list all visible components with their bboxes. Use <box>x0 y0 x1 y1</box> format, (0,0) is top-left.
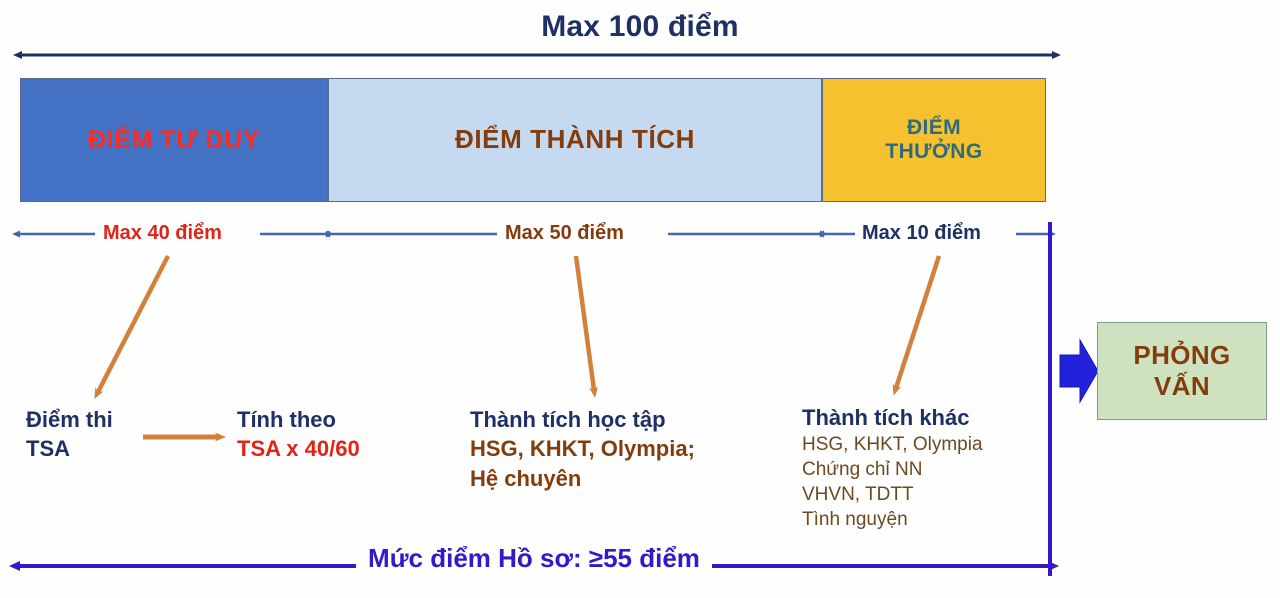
interview-line1: PHỎNG <box>1133 340 1230 371</box>
interview-box[interactable]: PHỎNG VẤN <box>1097 322 1267 420</box>
list-item: VHVN, TDTT <box>802 482 983 507</box>
block-study-achievement: Thành tích học tập HSG, KHKT, Olympia; H… <box>470 405 695 493</box>
interview-line2: VẤN <box>1133 371 1230 402</box>
block-other-achievement: Thành tích khác HSG, KHKT, Olympia Chứng… <box>802 403 983 533</box>
footer-threshold-text: Mức điểm Hồ sơ: ≥55 điểm <box>356 543 712 573</box>
list-item: HSG, KHKT, Olympia <box>802 432 983 457</box>
block-other-list: HSG, KHKT, Olympia Chứng chỉ NN VHVN, TD… <box>802 432 983 532</box>
list-item: Tình nguyện <box>802 507 983 532</box>
diagram-canvas: Max 100 điểm <box>0 0 1280 598</box>
max-label-thinking: Max 40 điểm <box>103 222 222 245</box>
block-formula-line1: Tính theo <box>237 405 360 434</box>
page-title: Max 100 điểm <box>0 10 1280 44</box>
block-arrow-right-icon <box>1060 340 1098 402</box>
block-tsa-formula: Tính theo TSA x 40/60 <box>237 405 360 464</box>
block-study-line2: Hệ chuyên <box>470 464 695 493</box>
block-formula-line2: TSA x 40/60 <box>237 434 360 463</box>
list-item: Chứng chỉ NN <box>802 457 983 482</box>
flow-arrow-other-icon <box>896 256 939 388</box>
bar-segment-thinking[interactable]: ĐIỂM TƯ DUY <box>20 78 328 202</box>
footer-threshold-label: Mức điểm Hồ sơ: ≥55 điểm <box>0 543 1068 574</box>
block-tsa-line2: TSA <box>26 434 113 463</box>
max-label-achievement: Max 50 điểm <box>505 222 624 245</box>
flow-arrow-tsa-icon <box>98 256 168 392</box>
block-tsa-line1: Điểm thi <box>26 405 113 434</box>
block-other-heading: Thành tích khác <box>802 403 983 432</box>
score-composition-bar: ĐIỂM TƯ DUY ĐIỂM THÀNH TÍCH ĐIỂM THƯỞNG <box>20 78 1046 202</box>
block-study-heading: Thành tích học tập <box>470 405 695 434</box>
bar-segment-achievement[interactable]: ĐIỂM THÀNH TÍCH <box>328 78 822 202</box>
flow-arrow-study-icon <box>576 256 594 390</box>
bar-segment-bonus-line1: ĐIỂM <box>885 116 982 140</box>
block-tsa-score: Điểm thi TSA <box>26 405 113 464</box>
max-label-bonus: Max 10 điểm <box>862 222 981 245</box>
block-study-line1: HSG, KHKT, Olympia; <box>470 434 695 463</box>
bar-segment-bonus[interactable]: ĐIỂM THƯỞNG <box>822 78 1046 202</box>
bar-segment-bonus-line2: THƯỞNG <box>885 140 982 164</box>
